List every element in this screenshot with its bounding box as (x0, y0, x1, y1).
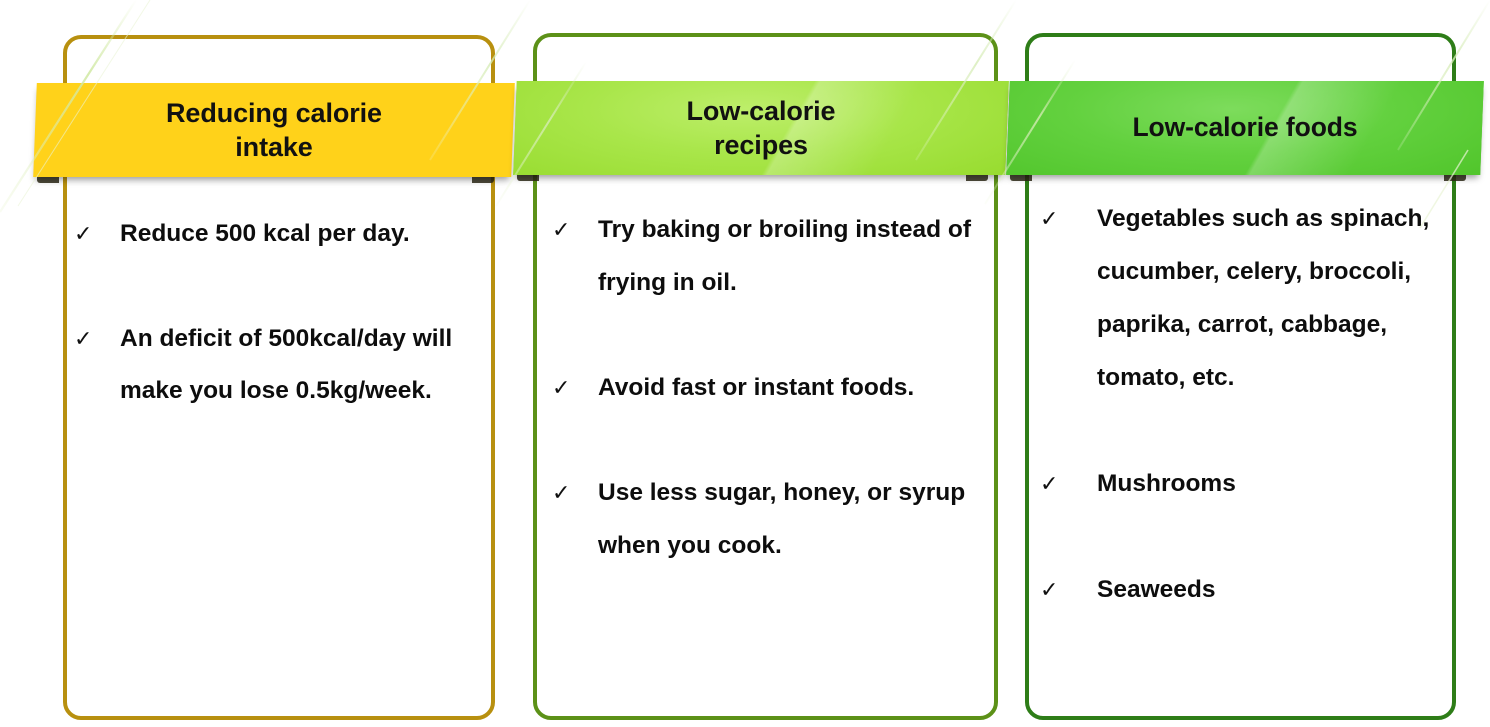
check-mark-icon: ✓ (1040, 192, 1097, 245)
list-item-text: Avoid fast or instant foods. (598, 361, 1007, 414)
slide-canvas: Reducing calorie intake ✓ Reduce 500 kca… (0, 0, 1490, 727)
list-item: ✓ Avoid fast or instant foods. (552, 361, 1007, 414)
card-body-low-calorie-recipes: ✓ Try baking or broiling instead of fryi… (552, 203, 1007, 572)
list-item-text: An deficit of 500kcal/day will make you … (120, 313, 514, 417)
list-item: ✓ Try baking or broiling instead of fryi… (552, 203, 1007, 309)
check-mark-icon: ✓ (74, 313, 120, 365)
card-header-reducing-calorie-intake: Reducing calorie intake (35, 83, 513, 177)
card-title-1: Reducing calorie intake (35, 83, 513, 177)
list-item: ✓ Seaweeds (1040, 563, 1470, 616)
check-mark-icon: ✓ (1040, 457, 1097, 510)
card-title-2: Low-calorie recipes (515, 81, 1007, 175)
card-header-low-calorie-foods: Low-calorie foods (1008, 81, 1482, 175)
card-body-reducing-calorie-intake: ✓ Reduce 500 kcal per day. ✓ An deficit … (74, 208, 514, 417)
list-item-text: Try baking or broiling instead of frying… (598, 203, 1007, 309)
check-mark-icon: ✓ (552, 203, 598, 256)
card-body-low-calorie-foods: ✓ Vegetables such as spinach, cucumber, … (1040, 192, 1470, 616)
check-mark-icon: ✓ (1040, 563, 1097, 616)
list-item-text: Reduce 500 kcal per day. (120, 208, 514, 260)
check-mark-icon: ✓ (74, 208, 120, 260)
list-item-text: Vegetables such as spinach, cucumber, ce… (1097, 192, 1470, 404)
list-item-text: Seaweeds (1097, 563, 1470, 616)
card-header-low-calorie-recipes: Low-calorie recipes (515, 81, 1007, 175)
list-item-text: Mushrooms (1097, 457, 1470, 510)
list-item: ✓ Use less sugar, honey, or syrup when y… (552, 466, 1007, 572)
list-item: ✓ Vegetables such as spinach, cucumber, … (1040, 192, 1470, 404)
list-item: ✓ Reduce 500 kcal per day. (74, 208, 514, 260)
list-item: ✓ An deficit of 500kcal/day will make yo… (74, 313, 514, 417)
list-item: ✓ Mushrooms (1040, 457, 1470, 510)
list-item-text: Use less sugar, honey, or syrup when you… (598, 466, 1007, 572)
card-title-3: Low-calorie foods (1008, 81, 1482, 175)
check-mark-icon: ✓ (552, 466, 598, 519)
check-mark-icon: ✓ (552, 361, 598, 414)
